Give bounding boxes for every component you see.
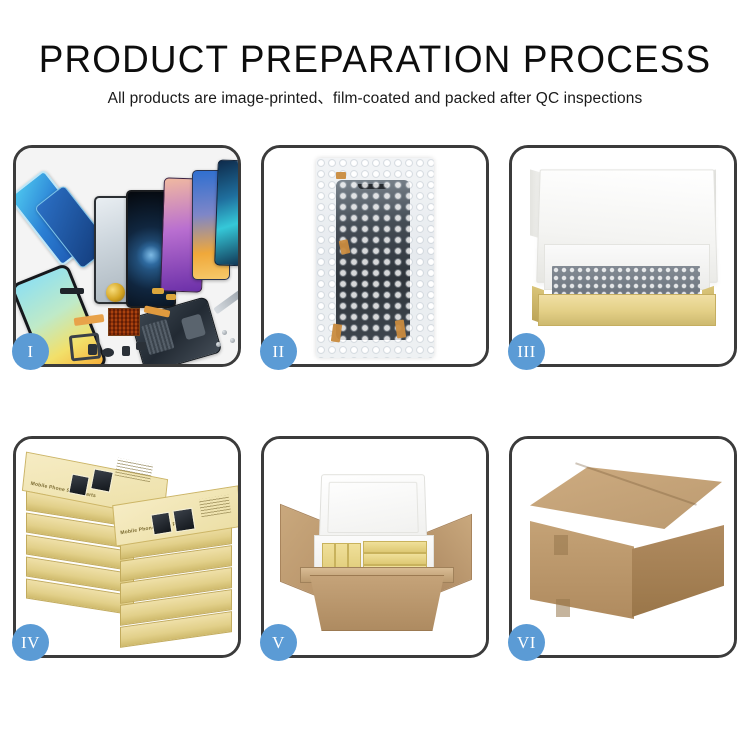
gold-connector-2	[166, 294, 176, 300]
step-6-image	[512, 439, 734, 655]
page-subtitle: All products are image-printed、film-coat…	[0, 89, 750, 109]
step-3-image	[512, 148, 734, 364]
vibration-motor-coil	[106, 283, 125, 302]
step-badge-6: VI	[508, 624, 545, 661]
product-preparation-infographic: PRODUCT PREPARATION PROCESS All products…	[0, 0, 750, 750]
step-1-image	[16, 148, 238, 364]
box-yellow-base	[538, 294, 716, 326]
step-badge-4: IV	[12, 624, 49, 661]
box-label-image-1b	[90, 468, 114, 492]
wrapped-screen-assembly	[336, 180, 410, 340]
step-panel-5: V	[261, 436, 489, 658]
step-panel-2: II	[261, 145, 489, 367]
small-part-4	[136, 342, 146, 350]
box-label-image-2a	[150, 512, 172, 536]
carton-top-face	[530, 467, 722, 529]
screw-1	[222, 330, 227, 335]
small-part-2	[102, 348, 114, 357]
inner-box-5	[363, 553, 427, 565]
phone-teal-wave	[214, 159, 238, 266]
step-badge-2: II	[260, 333, 297, 370]
carton-tape-lower	[556, 599, 570, 617]
step-2-image	[264, 148, 486, 364]
step-badge-3: III	[508, 333, 545, 370]
carton-front-face	[530, 521, 634, 619]
earpiece-speaker	[60, 288, 84, 294]
carton-side-face	[632, 525, 724, 617]
page-title: PRODUCT PREPARATION PROCESS	[11, 38, 739, 82]
step-badge-5: V	[260, 624, 297, 661]
carton-tape-upper	[554, 535, 568, 555]
step-panel-4: Mobile Phone Spare Parts Mobile Phone Sp…	[13, 436, 241, 658]
foam-lid-open	[319, 474, 427, 541]
process-steps-grid: I II	[13, 145, 737, 658]
box-label-image-1a	[68, 473, 89, 496]
carton-body	[304, 575, 450, 631]
step-4-image: Mobile Phone Spare Parts Mobile Phone Sp…	[16, 439, 238, 655]
box-stack: Mobile Phone Spare Parts Mobile Phone Sp…	[16, 439, 238, 655]
box-label-image-2b	[172, 508, 195, 533]
step-5-image	[264, 439, 486, 655]
small-part-1	[88, 344, 97, 355]
tape-tab-top	[336, 172, 346, 179]
step-badge-1: I	[12, 333, 49, 370]
step-panel-3: III	[509, 145, 737, 367]
tweezers-tool	[213, 289, 238, 315]
step-panel-6: VI	[509, 436, 737, 658]
screw-3	[216, 342, 221, 347]
inner-box-4	[363, 541, 427, 553]
small-part-3	[122, 346, 130, 356]
header: PRODUCT PREPARATION PROCESS All products…	[0, 38, 750, 109]
copper-chip-grid	[108, 308, 140, 336]
gold-connector-1	[152, 288, 164, 294]
step-panel-1: I	[13, 145, 241, 367]
screw-2	[230, 338, 235, 343]
